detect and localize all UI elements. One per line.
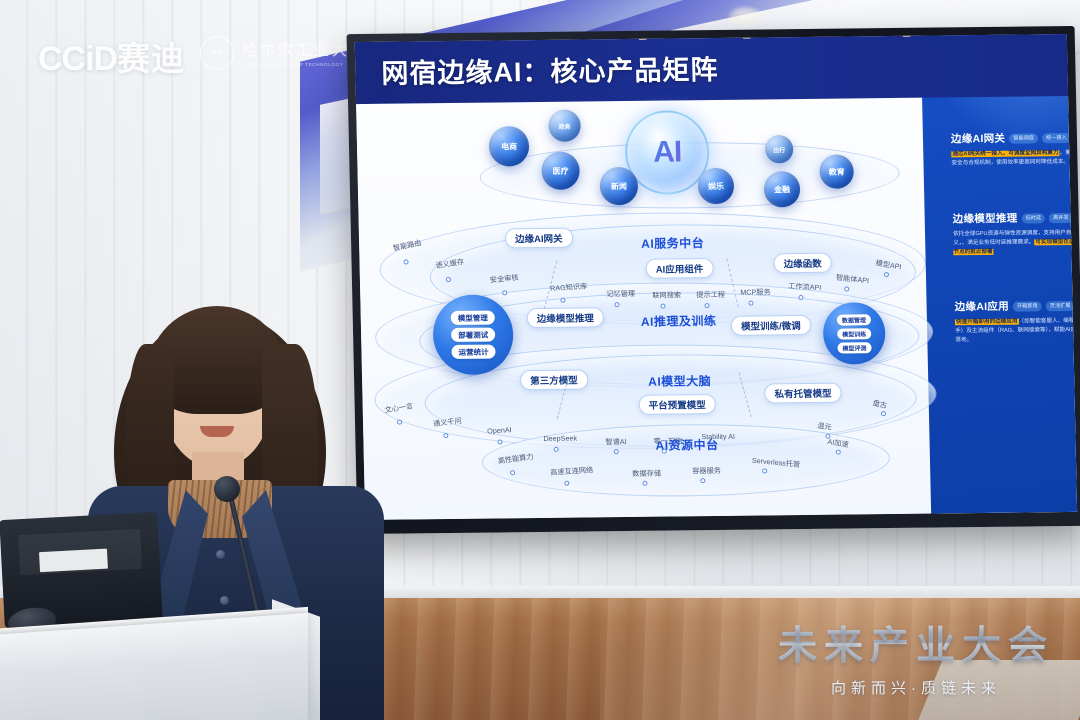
ops-circle-right: 数据管理 模型训练 模型评测 [823, 302, 886, 365]
industry-sphere-travel: 出行 [765, 135, 794, 163]
node-label-workflow-api: 工作流API [788, 281, 822, 293]
ccid-logo-latin: CCiD [38, 40, 117, 78]
layer-title-inference: AI推理及训练 [641, 312, 717, 330]
sphere-label: 金融 [774, 184, 790, 195]
rail-section-title: 边缘AI应用 [954, 299, 1009, 315]
sphere-label: 教育 [829, 166, 845, 177]
node-label-zhipu: 智谱AI [605, 437, 626, 447]
pill-private-hosted-model[interactable]: 私有托管模型 [764, 383, 841, 404]
node-dot [502, 290, 507, 295]
pill-third-party-model[interactable]: 第三方模型 [520, 369, 588, 390]
conference-photo: CCiD赛迪 HIT 哈尔滨工业大学 HARBIN INSTITUTE OF T… [0, 0, 1080, 720]
node-dot [642, 481, 647, 486]
sphere-label: 娱乐 [708, 180, 724, 191]
node-dot [881, 411, 886, 416]
node-dot [798, 295, 803, 300]
monitor-sticker [39, 549, 108, 573]
rail-section-application: 边缘AI应用 开箱即用 灵活扩展 快速开箱即用的边缘应用（如智能客服人、编程助手… [954, 298, 1077, 346]
sphere-label: 政务 [558, 121, 570, 130]
rail-section-body: 通过AI网关统一接入，可调度全网异构算力，兼顾安全与合规机制，使用效率更高同时降… [951, 149, 1077, 169]
ccid-logo: CCiD赛迪 [38, 32, 185, 80]
node-dot [762, 468, 767, 473]
node-dot [560, 298, 565, 303]
sphere-label: 医疗 [552, 165, 568, 176]
rail-section-body: 快速开箱即用的边缘应用（如智能客服人、编程助手）及主流组件（RAG、联网搜索等）… [955, 317, 1077, 346]
hit-logo: HIT 哈尔滨工业大学 HARBIN INSTITUTE OF TECHNOLO… [200, 36, 368, 70]
ceiling-spotlight [728, 6, 762, 26]
industry-sphere-education: 教育 [819, 154, 854, 188]
pill-edge-functions[interactable]: 边缘函数 [773, 253, 831, 274]
slide-title-band: 网宿边缘AI：核心产品矩阵 [355, 34, 1077, 104]
node-label-mcp-service: MCP服务 [740, 287, 771, 297]
sphere-label: 新闻 [611, 181, 627, 192]
layer-title-resource: AI资源中台 [655, 436, 718, 454]
rail-tag: 低时延 [1021, 213, 1045, 223]
node-dot [397, 420, 402, 425]
node-label-openai: OpenAI [487, 425, 512, 436]
ops-item-deploy-test[interactable]: 部署测试 [451, 328, 495, 342]
ops-circle-left: 模型管理 部署测试 运营统计 [432, 294, 514, 375]
node-dot [443, 433, 448, 438]
node-dot [700, 478, 705, 483]
pill-platform-builtin-model[interactable]: 平台预置模型 [638, 394, 715, 415]
hit-seal-icon: HIT [200, 36, 234, 70]
hit-seal-label: HIT [211, 50, 222, 57]
node-dot [748, 301, 753, 306]
rail-highlight: 通过AI网关统一接入，可调度全网异构算力 [951, 150, 1059, 157]
node-label-data-storage: 数据存储 [632, 469, 661, 479]
node-dot [614, 302, 619, 307]
node-dot [497, 439, 502, 444]
pill-ai-app-components[interactable]: AI应用组件 [646, 258, 714, 279]
node-dot [844, 286, 849, 291]
rail-section-header: 边缘AI网关 智能调度 统一接入 [951, 130, 1077, 146]
rail-section-body: 依托全球GPU资源与弹性资源调度，支持用户自定义，，满足业务低时延推理需求。可实… [953, 229, 1077, 258]
pill-edge-model-inference[interactable]: 边缘模型推理 [527, 307, 604, 328]
rail-tag: 统一接入 [1042, 132, 1071, 142]
industry-sphere-ecommerce: 电商 [489, 126, 530, 166]
ops-item-model-training[interactable]: 模型训练 [837, 328, 871, 339]
blazer-button [216, 550, 225, 559]
layer-title-service: AI服务中台 [641, 234, 704, 252]
node-dot [884, 272, 889, 277]
ai-core-label: AI [626, 112, 708, 193]
event-title: 未来产业大会 [778, 615, 1054, 671]
ops-item-ops-stats[interactable]: 运营统计 [451, 345, 495, 359]
ops-item-model-mgmt[interactable]: 模型管理 [451, 311, 495, 325]
node-dot [564, 481, 569, 486]
pill-model-train-finetune[interactable]: 模型训练/微调 [731, 315, 811, 336]
microphone-head [214, 476, 240, 502]
industry-sphere-entertainment: 娱乐 [698, 168, 735, 204]
sphere-label: 出行 [773, 145, 785, 154]
node-label-deepseek: DeepSeek [543, 434, 577, 443]
event-watermark: 未来产业大会 向新而兴·质链未来 [778, 615, 1054, 698]
rail-section-title: 边缘模型推理 [953, 211, 1018, 227]
node-label-web-search: 联网搜索 [652, 290, 681, 300]
rail-section-header: 边缘AI应用 开箱即用 灵活扩展 [954, 298, 1077, 314]
screen-bezel: 网宿边缘AI：核心产品矩阵 AI [347, 26, 1080, 534]
presentation-screen: 网宿边缘AI：核心产品矩阵 AI [347, 26, 1080, 534]
blazer-button [220, 596, 229, 605]
node-dot [446, 277, 451, 282]
pill-edge-ai-gateway[interactable]: 边缘AI网关 [505, 228, 573, 249]
node-dot [554, 447, 559, 452]
node-dot [836, 450, 841, 455]
node-label-prompt-eng: 提示工程 [696, 290, 725, 300]
layer-title-brain: AI模型大脑 [648, 372, 711, 390]
rail-section-gateway: 边缘AI网关 智能调度 统一接入 通过AI网关统一接入，可调度全网异构算力，兼顾… [951, 130, 1077, 169]
rail-section-title: 边缘AI网关 [951, 131, 1006, 147]
industry-sphere-medical: 医疗 [541, 152, 580, 190]
node-label-memory-mgmt: 记忆管理 [606, 289, 635, 299]
slide-canvas: 网宿边缘AI：核心产品矩阵 AI [355, 34, 1077, 520]
node-dot [510, 470, 515, 475]
slide-title: 网宿边缘AI：核心产品矩阵 [381, 47, 719, 90]
rail-tag: 灵活扩展 [1046, 300, 1075, 310]
ops-item-model-eval[interactable]: 模型评测 [837, 342, 871, 353]
node-dot [705, 303, 710, 308]
rail-section-inference: 边缘模型推理 低时延 高并发 依托全球GPU资源与弹性资源调度，支持用户自定义，… [953, 210, 1078, 258]
rail-section-header: 边缘模型推理 低时延 高并发 [953, 210, 1078, 226]
ops-item-data-mgmt[interactable]: 数据管理 [837, 314, 871, 325]
sphere-label: 电商 [501, 141, 517, 152]
event-subtitle: 向新而兴·质链未来 [778, 677, 1054, 698]
node-dot [614, 449, 619, 454]
rail-tag: 智能调度 [1009, 133, 1038, 143]
node-label-container-service: 容器服务 [692, 466, 721, 476]
industry-sphere-news: 新闻 [600, 167, 639, 205]
product-matrix-diagram: AI 电商 政务 医疗 新闻 娱乐 出行 金融 教育 AI服务中台 边缘AI网关… [370, 104, 945, 520]
industry-sphere-government: 政务 [548, 110, 581, 142]
rail-highlight: 快速开箱即用的边缘应用 [955, 319, 1019, 326]
ccid-logo-cn: 赛迪 [117, 40, 185, 77]
rail-tag: 开箱即用 [1013, 301, 1042, 311]
industry-sphere-finance: 金融 [764, 171, 801, 207]
node-dot [661, 304, 666, 309]
node-dot [403, 259, 408, 264]
rail-tag: 高并发 [1049, 212, 1073, 222]
node-label-hunyuan: 混元 [817, 421, 832, 433]
